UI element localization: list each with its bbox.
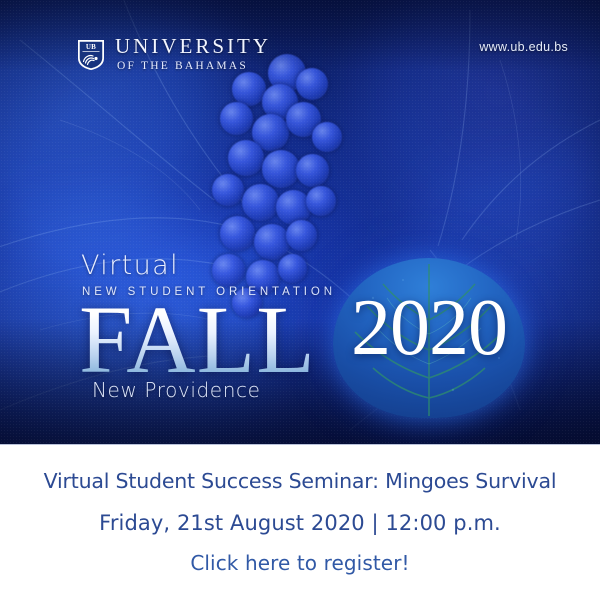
hero-banner: UB UNIVERSITY OF THE BAHAMAS www.ub.edu.… — [0, 0, 600, 444]
register-link[interactable]: Click here to register! — [190, 551, 409, 575]
logo-line-university: UNIVERSITY — [115, 36, 271, 57]
logo-line-of-the-bahamas: OF THE BAHAMAS — [117, 61, 271, 73]
year-leaf-graphic: 2020 — [333, 258, 525, 423]
ub-seal-icon: UB — [76, 38, 106, 71]
university-logo[interactable]: UB UNIVERSITY OF THE BAHAMAS — [76, 36, 271, 73]
seminar-datetime: Friday, 21st August 2020 | 12:00 p.m. — [99, 511, 501, 535]
poster: UB UNIVERSITY OF THE BAHAMAS www.ub.edu.… — [0, 0, 600, 602]
website-url[interactable]: www.ub.edu.bs — [479, 40, 568, 54]
year-text: 2020 — [333, 288, 525, 368]
seminar-title: Virtual Student Success Seminar: Mingoes… — [44, 469, 557, 493]
svg-text:UB: UB — [86, 43, 96, 51]
caption-panel: Virtual Student Success Seminar: Mingoes… — [0, 444, 600, 602]
logo-wordmark: UNIVERSITY OF THE BAHAMAS — [115, 36, 271, 73]
title-virtual: Virtual — [81, 252, 348, 279]
